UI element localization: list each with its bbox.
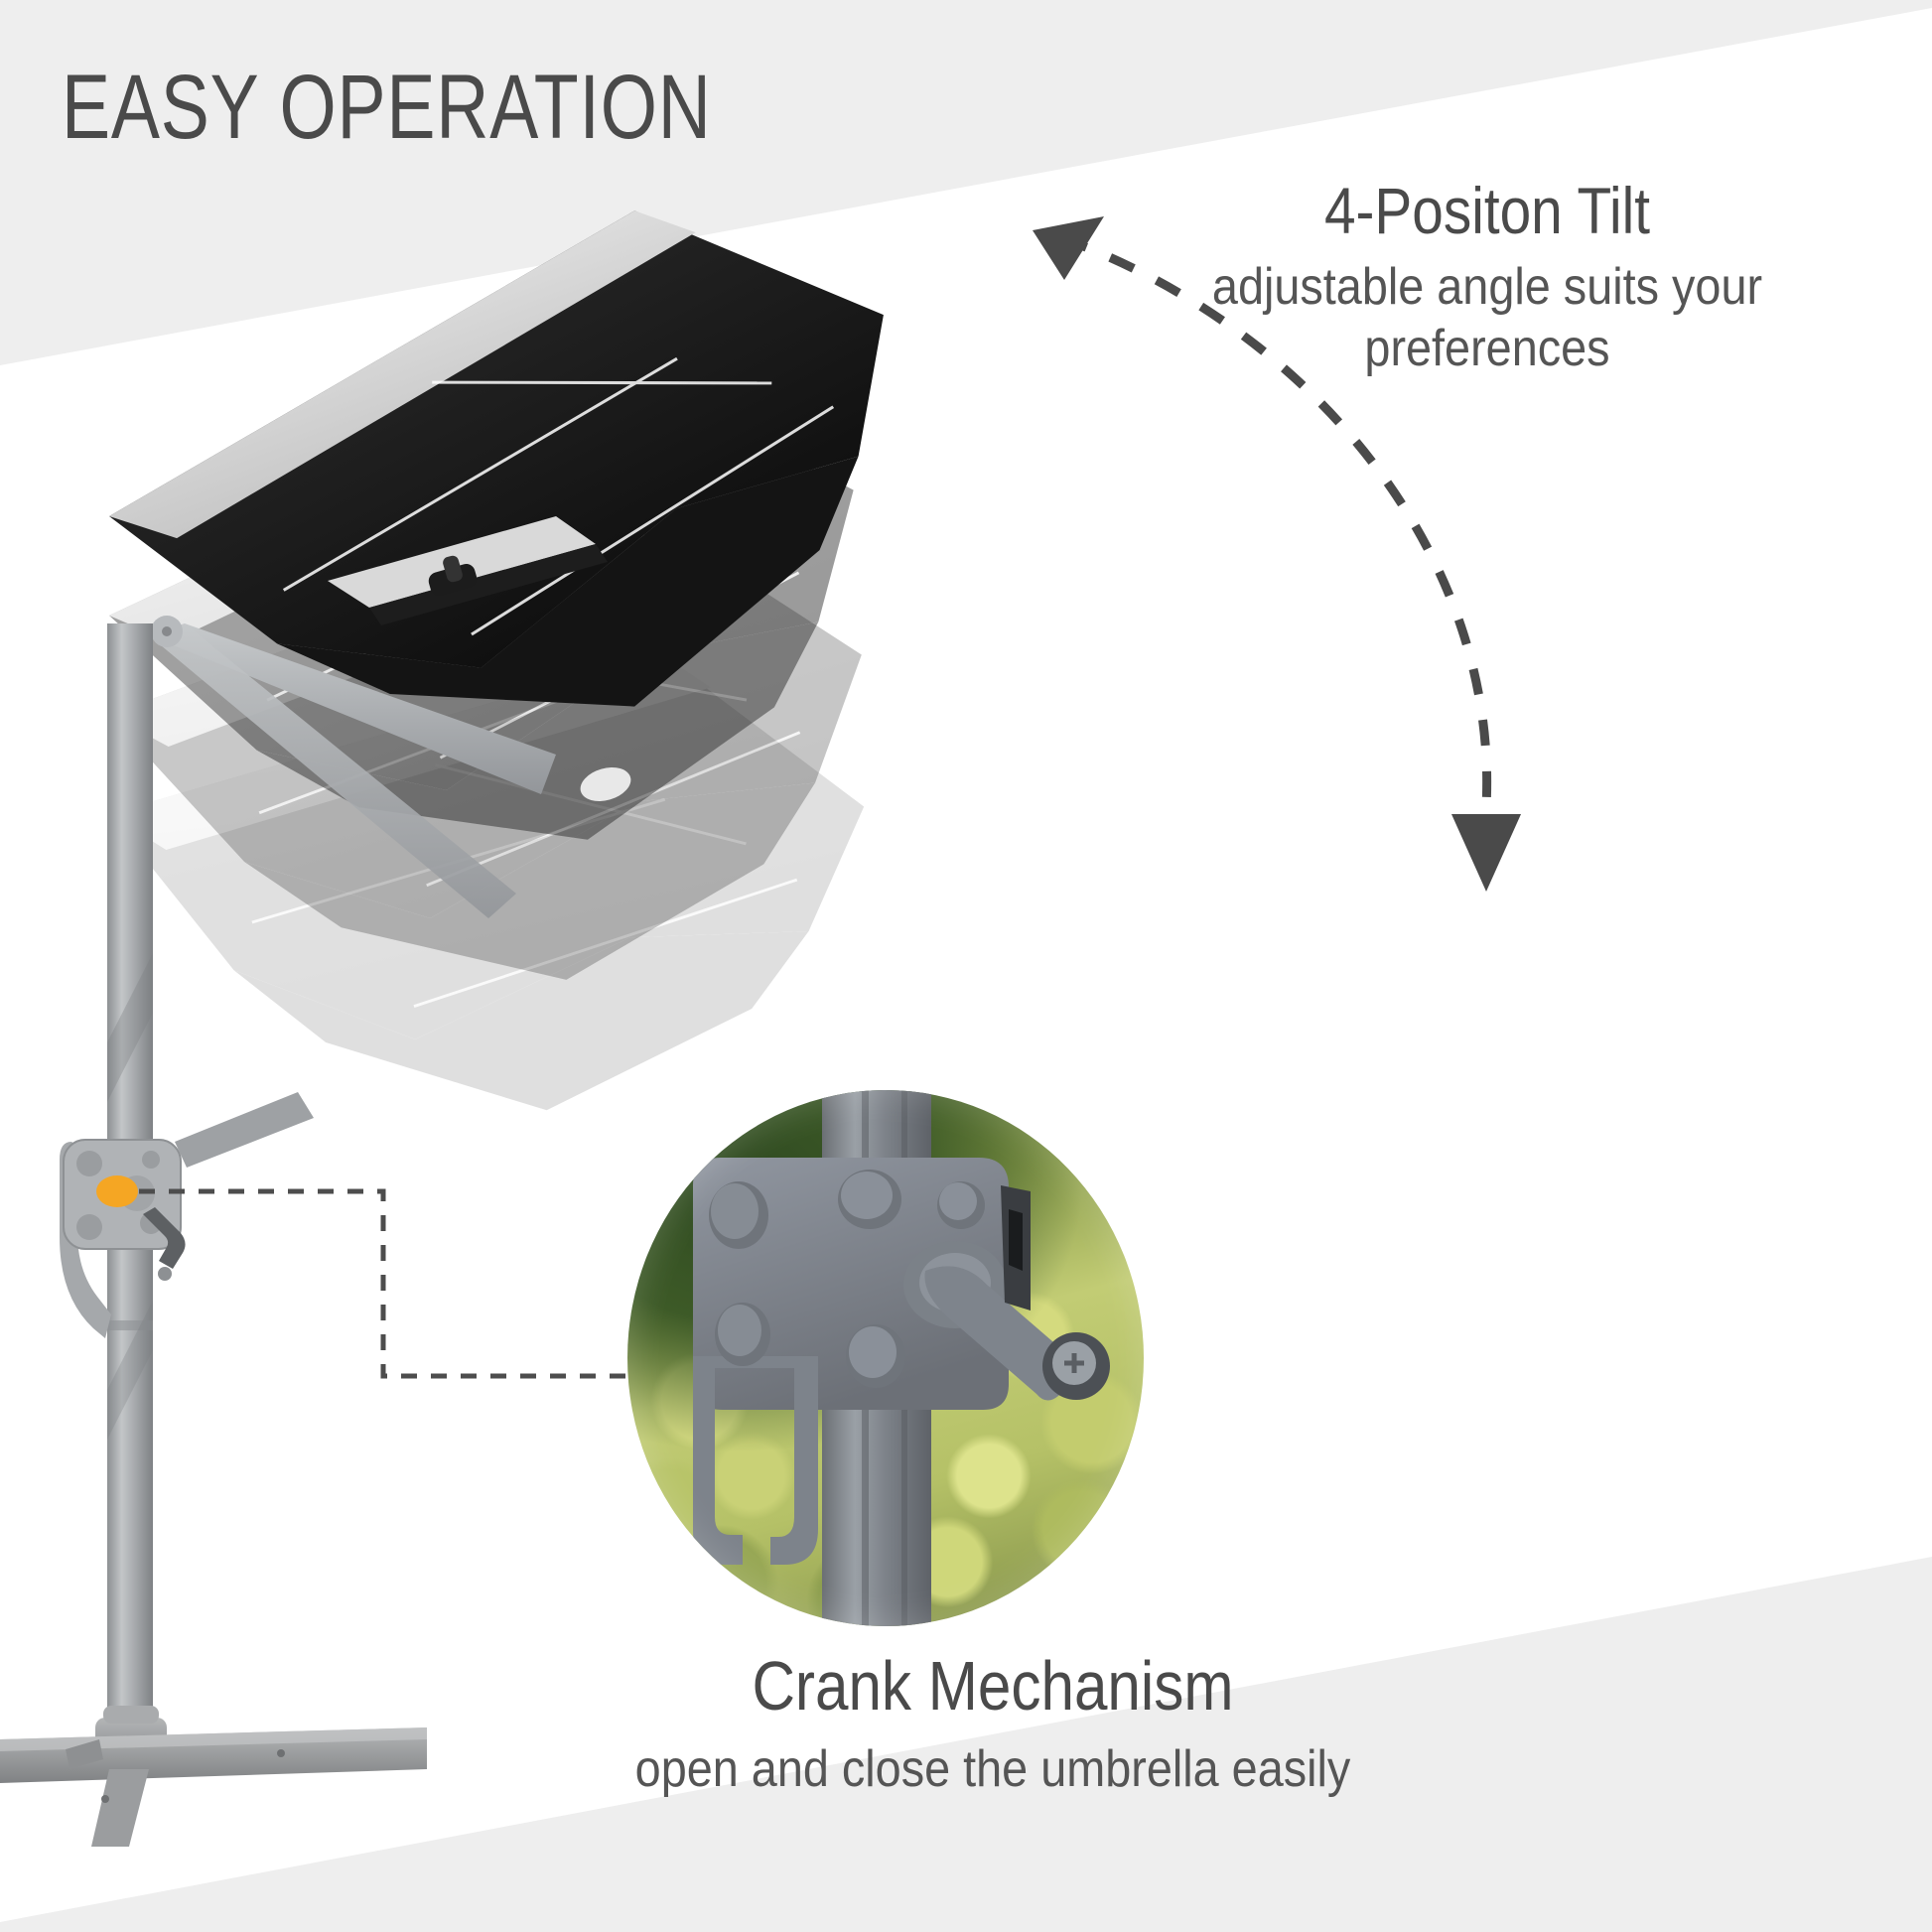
crank-callout: Crank Mechanism open and close the umbre… [417,1648,1569,1800]
tilt-indicator-dot [96,1175,138,1207]
crank-leader-line [139,1191,695,1376]
crank-housing [60,1092,314,1338]
umbrella-cross-base [0,1706,427,1847]
crank-mechanism-photo [627,1090,1144,1626]
tilt-heading: 4-Positon Tilt [1113,175,1861,248]
infographic-canvas: EASY OPERATION [0,0,1932,1932]
crank-subtext: open and close the umbrella easily [475,1738,1511,1800]
crank-heading: Crank Mechanism [497,1648,1488,1725]
triangle-arrow-down-icon [1451,814,1521,892]
tilt-subtext: adjustable angle suits your preferences [1096,256,1878,380]
tilt-callout: 4-Positon Tilt adjustable angle suits yo… [1052,175,1922,380]
